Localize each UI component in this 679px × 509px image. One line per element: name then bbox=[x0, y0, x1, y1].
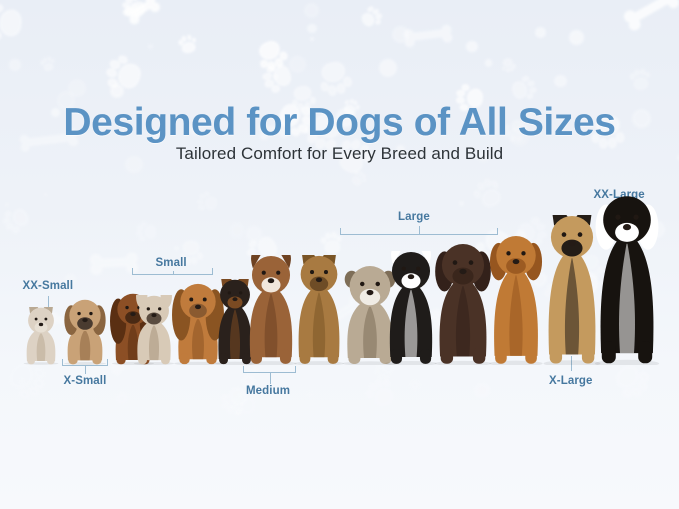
bracket-center-stem bbox=[270, 373, 271, 384]
size-label-xx-small: XX-Small bbox=[23, 280, 74, 292]
connector-bracket-large bbox=[340, 234, 498, 235]
bracket-tick-right bbox=[497, 228, 498, 235]
connector-bracket-small bbox=[132, 274, 213, 275]
dog-vizsla bbox=[487, 235, 545, 365]
dog-pit-bull-terrier bbox=[243, 255, 299, 365]
bracket-tick-right bbox=[212, 268, 213, 275]
dog-chocolate-labrador bbox=[432, 243, 494, 365]
bracket-tick-left bbox=[132, 268, 133, 275]
bracket-center-stem bbox=[173, 271, 174, 275]
bracket-center-stem bbox=[419, 226, 420, 235]
size-label-x-large: X-Large bbox=[549, 375, 593, 387]
size-label-large: Large bbox=[398, 211, 430, 223]
bracket-tick-left bbox=[340, 228, 341, 235]
connector-bracket-x-small bbox=[62, 365, 108, 366]
size-label-medium: Medium bbox=[246, 385, 290, 397]
dog-size-lineup bbox=[0, 0, 679, 509]
size-label-small: Small bbox=[156, 257, 187, 269]
connector-bracket-medium bbox=[243, 372, 296, 373]
dog-chihuahua bbox=[22, 307, 60, 365]
dog-mixed-breed-tan bbox=[292, 255, 346, 365]
size-label-x-small: X-Small bbox=[64, 375, 107, 387]
poster-canvas: Designed for Dogs of All Sizes Tailored … bbox=[0, 0, 679, 509]
bracket-center-stem bbox=[85, 366, 86, 374]
dog-terrier-mix bbox=[62, 299, 108, 365]
dog-bernese-mountain-dog bbox=[592, 195, 662, 365]
dog-border-collie bbox=[383, 251, 439, 365]
bracket-tick-left bbox=[243, 366, 244, 373]
bracket-tick-right bbox=[295, 366, 296, 373]
dog-french-bulldog bbox=[132, 295, 176, 365]
